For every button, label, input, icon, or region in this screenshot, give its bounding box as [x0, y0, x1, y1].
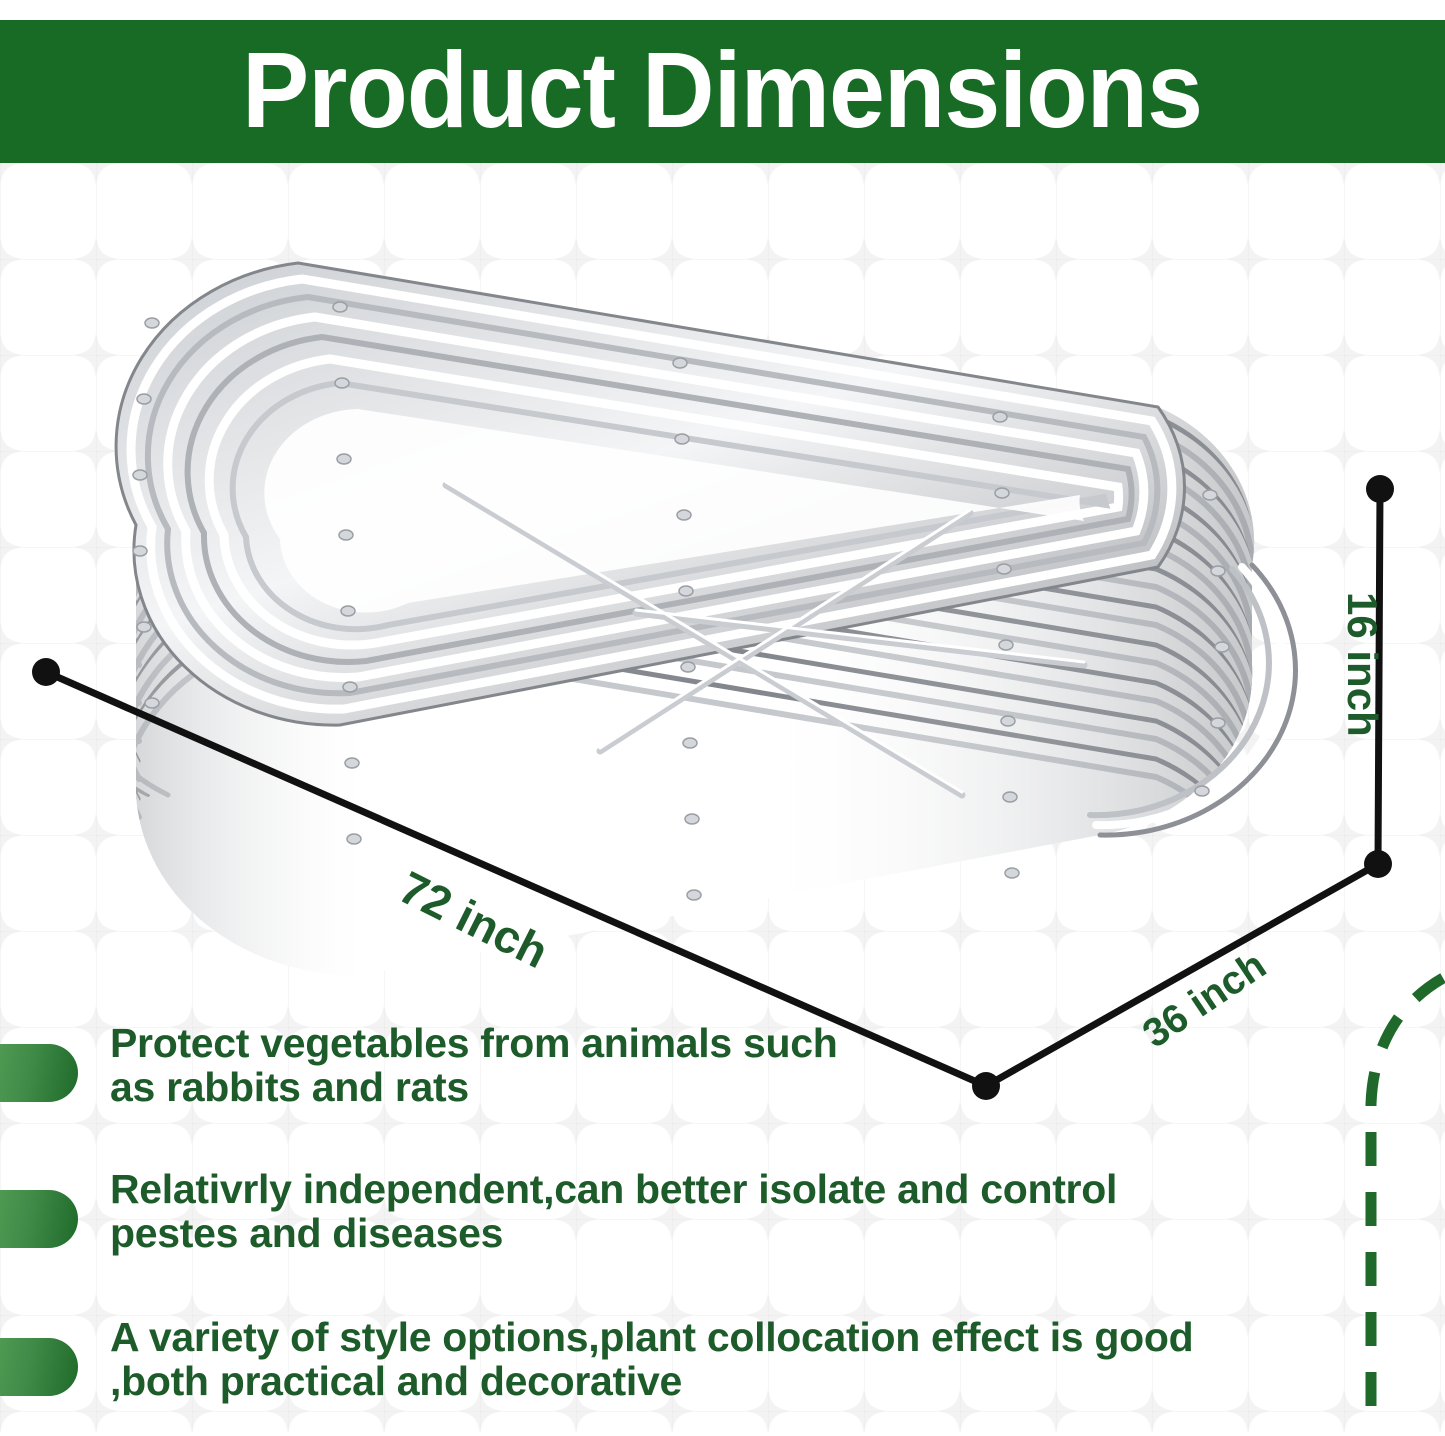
- feature-list-item: Protect vegetables from animals such as …: [0, 1022, 1350, 1142]
- header-banner: Product Dimensions: [0, 20, 1445, 163]
- bullet-marker-icon: [0, 1044, 78, 1102]
- feature-list-item: A variety of style options,plant colloca…: [0, 1316, 1350, 1436]
- feature-text: Relativrly independent,can better isolat…: [110, 1168, 1120, 1256]
- page-title: Product Dimensions: [243, 36, 1203, 144]
- feature-list-item: Relativrly independent,can better isolat…: [0, 1168, 1350, 1288]
- bullet-marker-icon: [0, 1190, 78, 1248]
- feature-list: Protect vegetables from animals such as …: [0, 1022, 1350, 1436]
- feature-text: A variety of style options,plant colloca…: [110, 1316, 1270, 1404]
- bullet-marker-icon: [0, 1338, 78, 1396]
- dimension-label-height: 16 inch: [1338, 592, 1386, 737]
- product-illustration-raised-garden-bed: [40, 195, 1400, 1115]
- feature-text: Protect vegetables from animals such as …: [110, 1022, 870, 1110]
